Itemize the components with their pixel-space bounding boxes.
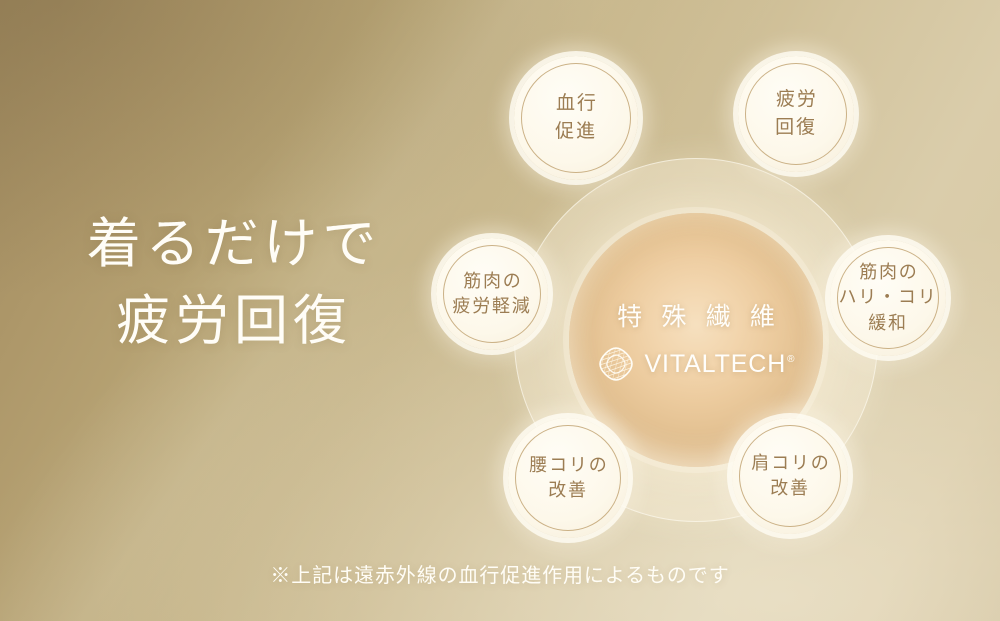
benefit-bubble-shoulder-relief[interactable]: 肩コリの 改善: [732, 418, 848, 534]
headline-line-1: 着るだけで: [64, 206, 404, 283]
headline-line-2: 疲労回復: [64, 283, 404, 360]
promo-banner: 着るだけで 疲労回復 特 殊 繊 維: [0, 0, 1000, 621]
benefit-label: 血行 促進: [554, 90, 598, 145]
benefit-label: 疲労 回復: [774, 86, 818, 141]
benefit-label: 肩コリの 改善: [750, 451, 831, 501]
benefit-bubble-blood-circulation[interactable]: 血行 促進: [514, 56, 638, 180]
benefit-bubble-lower-back-relief[interactable]: 腰コリの 改善: [508, 418, 628, 538]
benefit-label: 筋肉の 疲労軽減: [452, 269, 531, 319]
benefit-label: 筋肉の ハリ・コリ 緩和: [839, 260, 938, 336]
brand-lockup: VITALTECH®: [597, 345, 794, 383]
footnote-disclaimer: ※上記は遠赤外線の血行促進作用によるものです: [0, 559, 1000, 588]
headline: 着るだけで 疲労回復: [64, 206, 404, 359]
benefit-bubble-muscle-stiffness[interactable]: 筋肉の ハリ・コリ 緩和: [830, 240, 946, 356]
benefit-bubble-fatigue-recovery[interactable]: 疲労 回復: [738, 56, 854, 172]
woven-diamond-logo-icon: [597, 345, 635, 383]
brand-name: VITALTECH®: [644, 350, 794, 379]
brand-name-text: VITALTECH: [644, 350, 786, 378]
benefit-bubble-muscle-fatigue[interactable]: 筋肉の 疲労軽減: [436, 238, 548, 350]
benefits-diagram: 特 殊 繊 維: [398, 28, 978, 548]
benefit-label: 腰コリの 改善: [528, 453, 609, 503]
registered-mark: ®: [787, 354, 794, 365]
center-title: 特 殊 繊 維: [611, 297, 782, 333]
